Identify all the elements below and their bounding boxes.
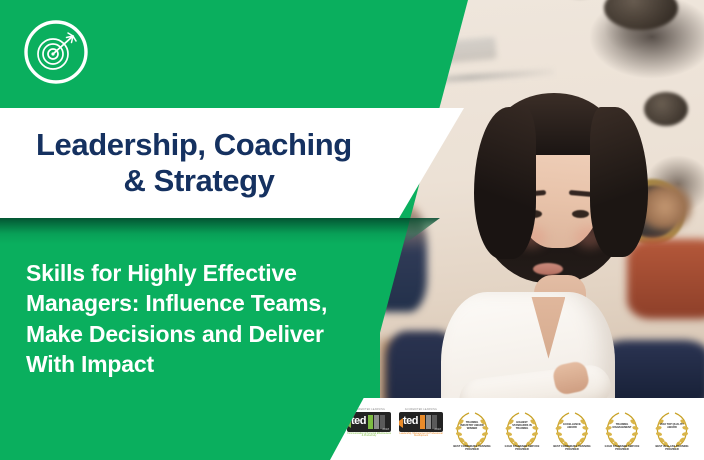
ted-badge-arrow-icon: [399, 418, 403, 428]
ted-badge-year: 2018: [434, 427, 441, 431]
laurel-award-badge: HIGHEST STANDARDS IN TRAINING GOLD STAND…: [500, 407, 544, 451]
laurel-award-badge: TRAINING MANAGEMENT GOLD STANDARD SERVIC…: [600, 407, 644, 451]
laurel-badge-top-text: HIGHEST STANDARDS IN TRAINING: [510, 422, 534, 431]
title-banner-shadow: [0, 218, 440, 244]
laurel-award-badge: TRAINING INDUSTRY AWARD WINNER BEST CORP…: [450, 407, 494, 451]
laurel-award-badge: EXCELLENCE AWARD BEST CORPORATE TRAINING…: [550, 407, 594, 451]
laurel-badge-top-text: TRAINING MANAGEMENT: [610, 424, 634, 430]
badge-list: ACCREDITED LEARNING ted 2018 Communicati…: [346, 407, 694, 451]
page-subtitle: Skills for Highly Effective Managers: In…: [26, 258, 346, 379]
ted-badge-sub-text: Communication & Personal Effectiveness &…: [346, 433, 392, 439]
hair-strand-right: [590, 107, 648, 257]
ted-badge: ACCREDITED LEARNING ted 2018 Leadership,…: [398, 409, 444, 449]
laurel-badge-bottom-text: BEST CORPORATE TRAINING PROVIDER: [550, 446, 594, 452]
accreditation-badge-bar: ACCREDITED LEARNING ted 2018 Communicati…: [330, 398, 704, 460]
page-title-line-2: & Strategy: [36, 163, 420, 199]
page-title: Leadership, Coaching & Strategy: [0, 108, 420, 218]
laurel-badge-bottom-text: BEST CORPORATE TRAINING PROVIDER: [450, 446, 494, 452]
laurel-badge-top-text: 2018 TOP QUALITY AWARD: [660, 424, 684, 430]
laurel-award-badge: 2018 TOP QUALITY AWARD BEST IN CLASS TRA…: [650, 407, 694, 451]
hair-strand-left: [474, 107, 536, 259]
laurel-badge-top-text: EXCELLENCE AWARD: [560, 424, 584, 430]
title-banner: Leadership, Coaching & Strategy: [0, 108, 464, 218]
ted-badge-year: 2018: [382, 427, 389, 431]
page-title-line-1: Leadership, Coaching: [36, 127, 420, 163]
course-promo-banner: Leadership, Coaching & Strategy Skills f…: [0, 0, 704, 460]
ted-badge-logo: ted 2018: [399, 412, 443, 432]
laurel-badge-bottom-text: GOLD STANDARD SERVICE PROVIDER: [500, 446, 544, 452]
laurel-badge-bottom-text: BEST IN CLASS TRAINING PROVIDER: [650, 446, 694, 452]
laurel-badge-bottom-text: GOLD STANDARD SERVICE PROVIDER: [600, 446, 644, 452]
ted-badge-sub-text: Leadership, Management & Professional De…: [398, 433, 444, 439]
laurel-badge-top-text: TRAINING INDUSTRY AWARD WINNER: [460, 422, 484, 431]
target-arrow-icon: [22, 18, 90, 86]
